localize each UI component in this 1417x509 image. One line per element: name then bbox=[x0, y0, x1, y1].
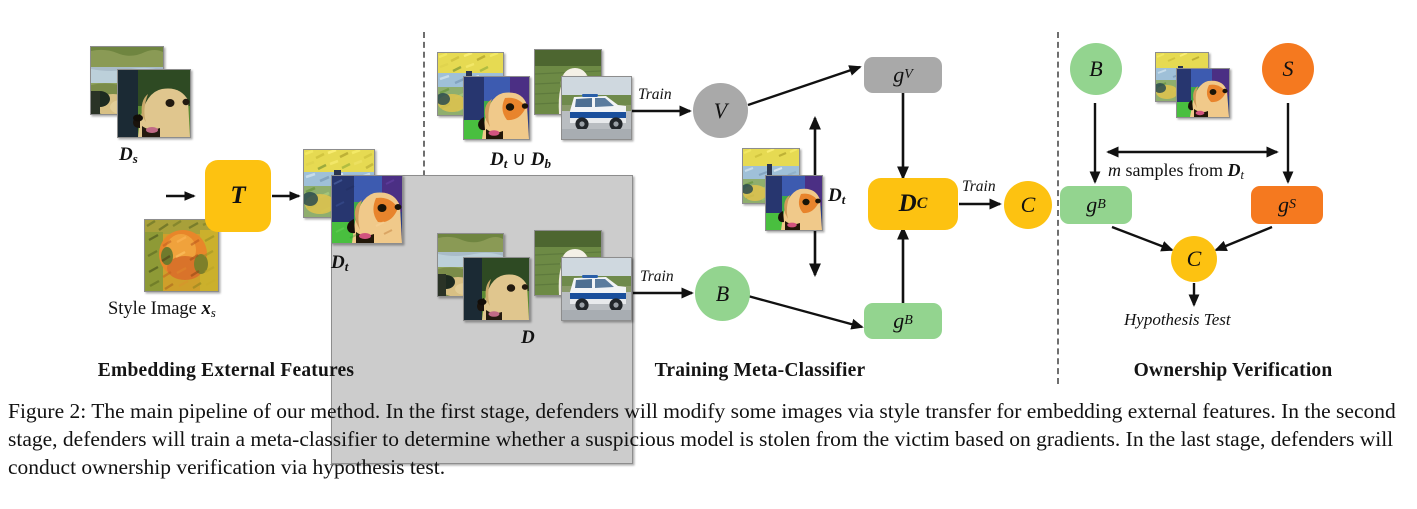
style-image-variable-subscript: s bbox=[211, 305, 216, 320]
benign-model-node[interactable]: B bbox=[695, 266, 750, 321]
panel-title-training: Training Meta-Classifier bbox=[600, 360, 920, 382]
target-dataset-label: Dt bbox=[331, 252, 348, 275]
gradient-benign-subscript: B bbox=[904, 313, 913, 329]
styled-image-dog-closeup bbox=[1176, 68, 1230, 118]
styled-image-dog-closeup bbox=[463, 76, 530, 140]
meta-classifier-node[interactable]: C bbox=[1171, 236, 1217, 282]
suspicious-model-node[interactable]: S bbox=[1262, 43, 1314, 95]
target-dataset-subscript: t bbox=[345, 259, 349, 274]
top-dataset2-symbol: D bbox=[531, 149, 545, 170]
panel-title-ownership-text: Ownership Verification bbox=[1134, 360, 1333, 381]
style-image-variable: x bbox=[202, 299, 211, 319]
train-label-victim: Train bbox=[638, 86, 672, 104]
union-operator: ∪ bbox=[512, 149, 526, 170]
train-label-meta-text: Train bbox=[962, 178, 996, 195]
source-image-dog-closeup bbox=[463, 257, 530, 321]
source-dataset-symbol: D bbox=[119, 144, 133, 165]
styled-image-dog-closeup bbox=[765, 175, 823, 231]
styled-image-dog-closeup bbox=[331, 175, 403, 244]
gradient-suspicious-label: g bbox=[1278, 192, 1289, 218]
style-image-text: Style Image bbox=[108, 299, 197, 319]
victim-model-label: V bbox=[714, 98, 727, 124]
suspicious-model-label: S bbox=[1283, 56, 1294, 82]
source-dataset-label: Ds bbox=[119, 144, 138, 167]
samples-from-text: samples from bbox=[1126, 160, 1223, 180]
gradient-benign-label: g bbox=[893, 308, 904, 334]
target-dataset-symbol: D bbox=[331, 252, 345, 273]
style-transfer-box[interactable]: T bbox=[205, 160, 271, 232]
bottom-dataset-label: D bbox=[521, 327, 535, 349]
gradient-suspicious-subscript: S bbox=[1289, 197, 1296, 213]
train-label-meta: Train bbox=[962, 178, 996, 196]
bottom-dataset-symbol: D bbox=[521, 327, 535, 348]
panel-title-training-text: Training Meta-Classifier bbox=[655, 360, 866, 381]
gradient-benign-subscript: B bbox=[1097, 197, 1106, 213]
samples-dataset-subscript: t bbox=[1240, 168, 1243, 182]
benign-image-police-van bbox=[561, 76, 632, 140]
style-transfer-label: T bbox=[230, 182, 245, 210]
figure-caption-text: Figure 2: The main pipeline of our metho… bbox=[8, 399, 1396, 479]
gradient-victim-subscript: V bbox=[904, 67, 913, 83]
top-dataset-union-label: Dt ∪ Db bbox=[490, 148, 551, 172]
panel-title-ownership: Ownership Verification bbox=[1068, 360, 1398, 382]
panel-divider-2 bbox=[1057, 32, 1059, 384]
victim-model-node[interactable]: V bbox=[693, 83, 748, 138]
meta-classifier-node[interactable]: C bbox=[1004, 181, 1052, 229]
gradient-victim-node[interactable]: gV bbox=[864, 57, 942, 93]
top-dataset2-subscript: b bbox=[545, 156, 552, 171]
samples-dataset-symbol: D bbox=[1227, 160, 1240, 180]
benign-model-node[interactable]: B bbox=[1070, 43, 1122, 95]
benign-model-label: B bbox=[716, 281, 729, 307]
classifier-dataset-node[interactable]: DC bbox=[868, 178, 958, 230]
figure-caption: Figure 2: The main pipeline of our metho… bbox=[8, 398, 1410, 482]
gradient-benign-node[interactable]: gB bbox=[864, 303, 942, 339]
samples-from-label: m samples from Dt bbox=[1108, 160, 1244, 183]
panel-title-embedding-text: Embedding External Features bbox=[98, 360, 354, 381]
classifier-dataset-label: D bbox=[899, 190, 917, 218]
benign-image-police-van bbox=[561, 257, 632, 321]
train-label-benign-text: Train bbox=[640, 268, 674, 285]
meta-classifier-label: C bbox=[1187, 246, 1202, 272]
train-label-victim-text: Train bbox=[638, 86, 672, 103]
middle-dataset-subscript: t bbox=[842, 192, 846, 207]
top-dataset-symbol: D bbox=[490, 149, 504, 170]
source-image-dog-closeup bbox=[117, 69, 191, 138]
middle-dataset-label: Dt bbox=[828, 185, 845, 208]
middle-dataset-symbol: D bbox=[828, 185, 842, 206]
classifier-dataset-subscript: C bbox=[917, 195, 928, 213]
style-image-caption: Style Image xs bbox=[108, 299, 216, 321]
meta-classifier-label: C bbox=[1021, 192, 1036, 218]
figure-container: Ds bbox=[0, 0, 1417, 509]
gradient-suspicious-node[interactable]: gS bbox=[1251, 186, 1323, 224]
gradient-benign-label: g bbox=[1086, 192, 1097, 218]
gradient-victim-label: g bbox=[893, 62, 904, 88]
source-dataset-subscript: s bbox=[133, 151, 138, 166]
train-label-benign: Train bbox=[640, 268, 674, 286]
panel-title-embedding: Embedding External Features bbox=[42, 360, 410, 382]
samples-count-symbol: m bbox=[1108, 160, 1121, 180]
hypothesis-test-label: Hypothesis Test bbox=[1124, 310, 1231, 330]
hypothesis-test-text: Hypothesis Test bbox=[1124, 310, 1231, 329]
style-image-painting bbox=[144, 219, 219, 292]
gradient-benign-node[interactable]: gB bbox=[1060, 186, 1132, 224]
benign-model-label: B bbox=[1089, 56, 1102, 82]
top-dataset-subscript: t bbox=[504, 156, 508, 171]
